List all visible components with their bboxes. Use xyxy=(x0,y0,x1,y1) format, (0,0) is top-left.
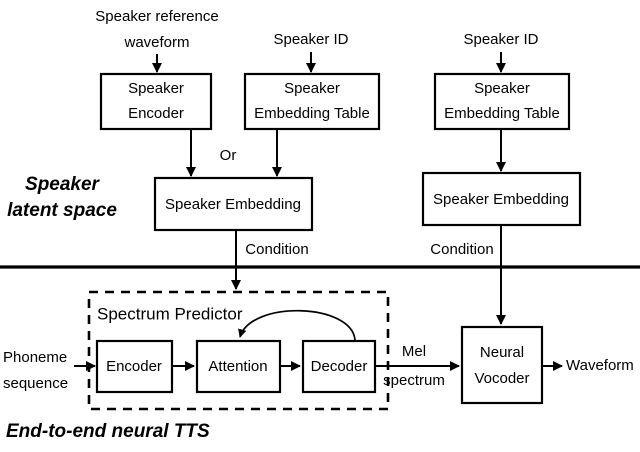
node-embedding-table-mid-label-line1: Speaker xyxy=(284,80,340,97)
input-label-speaker-reference-line1: Speaker reference xyxy=(95,8,218,25)
input-label-speaker-id-middle: Speaker ID xyxy=(273,31,348,48)
node-speaker-encoder-label-line1: Speaker xyxy=(128,80,184,97)
node-embedding-table-right-label-line2: Embedding Table xyxy=(444,105,560,122)
node-decoder-label: Decoder xyxy=(311,358,368,375)
group-label-spectrum-predictor: Spectrum Predictor xyxy=(97,304,243,323)
input-label-speaker-id-right: Speaker ID xyxy=(463,31,538,48)
figure-canvas: Speaker reference waveform Speaker ID Sp… xyxy=(0,0,640,452)
edge-label-condition-right: Condition xyxy=(430,241,493,258)
node-neural-vocoder-label-line2: Vocoder xyxy=(474,370,529,387)
edge-decoder-feedback-to-attention xyxy=(240,311,355,340)
edge-label-mel-line2: spectrum xyxy=(383,372,445,389)
input-label-phoneme-line1: Phoneme xyxy=(3,349,67,366)
edge-label-condition-left: Condition xyxy=(245,241,308,258)
node-attention-label: Attention xyxy=(208,358,267,375)
node-speaker-encoder-label-line2: Encoder xyxy=(128,105,184,122)
section-label-end-to-end-neural-tts: End-to-end neural TTS xyxy=(6,421,210,442)
input-label-speaker-reference-line2: waveform xyxy=(123,34,189,51)
edge-label-or: Or xyxy=(220,147,237,164)
node-embedding-table-right-label-line1: Speaker xyxy=(474,80,530,97)
node-neural-vocoder-label-line1: Neural xyxy=(480,344,524,361)
tts-architecture-diagram: Speaker reference waveform Speaker ID Sp… xyxy=(0,0,640,452)
input-label-phoneme-line2: sequence xyxy=(3,375,68,392)
node-speaker-embedding-right-label: Speaker Embedding xyxy=(433,191,569,208)
node-encoder-label: Encoder xyxy=(106,358,162,375)
section-label-speaker-latent-space-line2: latent space xyxy=(7,200,117,221)
output-label-waveform: Waveform xyxy=(566,357,634,374)
node-embedding-table-mid-label-line2: Embedding Table xyxy=(254,105,370,122)
edge-label-mel-line1: Mel xyxy=(402,343,426,360)
node-speaker-embedding-left-label: Speaker Embedding xyxy=(165,196,301,213)
section-label-speaker-latent-space-line1: Speaker xyxy=(25,174,101,195)
node-neural-vocoder xyxy=(462,327,542,403)
